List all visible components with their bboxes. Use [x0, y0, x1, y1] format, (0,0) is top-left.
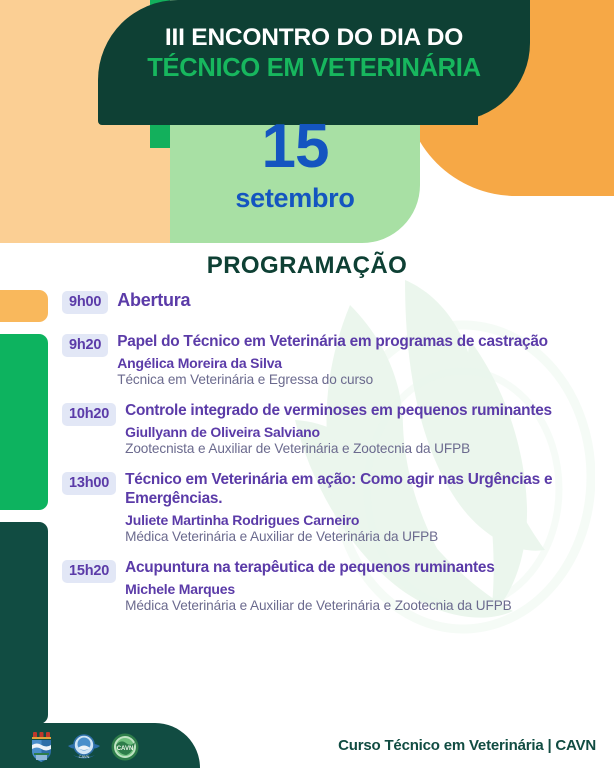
schedule-item-body: Abertura	[117, 290, 604, 312]
schedule-item-time: 10h20	[62, 403, 116, 426]
schedule-item-body: Técnico em Veterinária em ação: Como agi…	[125, 471, 604, 545]
schedule-item-title: Abertura	[117, 290, 604, 312]
schedule-item-role: Técnica em Veterinária e Egressa do curs…	[117, 372, 604, 389]
footer-caption: Curso Técnico em Veterinária | CAVN	[338, 737, 596, 754]
schedule-item[interactable]: 10h20 Controle integrado de verminoses e…	[0, 402, 614, 457]
event-date: 15 setembro	[170, 118, 420, 214]
event-poster: III ENCONTRO DO DIA DO TÉCNICO EM VETERI…	[0, 0, 614, 768]
event-title-line-2: TÉCNICO EM VETERINÁRIA	[98, 53, 530, 84]
schedule-item-title: Papel do Técnico em Veterinária em progr…	[117, 333, 604, 352]
schedule-item-title: Técnico em Veterinária em ação: Como agi…	[125, 471, 604, 509]
schedule-item-time: 9h20	[62, 334, 108, 357]
schedule-item-role: Médica Veterinária e Auxiliar de Veterin…	[125, 598, 604, 615]
schedule-item-body: Controle integrado de verminoses em pequ…	[125, 402, 604, 457]
schedule-item-speaker: Michele Marques	[125, 581, 604, 598]
cavn-circular-logo: CAVN	[110, 732, 140, 762]
event-date-day: 15	[170, 118, 420, 177]
event-date-month: setembro	[170, 183, 420, 214]
ufpb-shield-logo	[28, 730, 58, 764]
schedule-rail-dark-green	[0, 522, 48, 724]
schedule-item-speaker: Juliete Martinha Rodrigues Carneiro	[125, 512, 604, 529]
schedule-item-time: 13h00	[62, 472, 116, 495]
schedule-item[interactable]: 13h00 Técnico em Veterinária em ação: Co…	[0, 471, 614, 545]
schedule-item[interactable]: 15h20 Acupuntura na terapêutica de peque…	[0, 559, 614, 614]
schedule-item-speaker: Angélica Moreira da Silva	[117, 355, 604, 372]
event-title: III ENCONTRO DO DIA DO TÉCNICO EM VETERI…	[98, 24, 530, 84]
footer-logo-group: CAVN CAVN	[28, 730, 140, 764]
schedule-item-title: Controle integrado de verminoses em pequ…	[125, 402, 604, 421]
svg-text:CAVN: CAVN	[79, 754, 90, 759]
program-schedule: 9h00 Abertura 9h20 Papel do Técnico em V…	[0, 286, 614, 614]
schedule-item-role: Médica Veterinária e Auxiliar de Veterin…	[125, 529, 604, 546]
schedule-item-time: 15h20	[62, 560, 116, 583]
schedule-item-body: Papel do Técnico em Veterinária em progr…	[117, 333, 604, 388]
schedule-item-body: Acupuntura na terapêutica de pequenos ru…	[125, 559, 604, 614]
svg-text:CAVN: CAVN	[117, 746, 134, 752]
program-heading: PROGRAMAÇÃO	[0, 252, 614, 280]
schedule-item-speaker: Giullyann de Oliveira Salviano	[125, 424, 604, 441]
cavn-winged-logo: CAVN	[67, 732, 101, 762]
schedule-item-time: 9h00	[62, 291, 108, 314]
schedule-item-role: Zootecnista e Auxiliar de Veterinária e …	[125, 441, 604, 458]
schedule-item-title: Acupuntura na terapêutica de pequenos ru…	[125, 559, 604, 578]
schedule-item[interactable]: 9h00 Abertura	[0, 290, 614, 314]
schedule-item[interactable]: 9h20 Papel do Técnico em Veterinária em …	[0, 333, 614, 388]
event-title-line-1: III ENCONTRO DO DIA DO	[98, 24, 530, 53]
